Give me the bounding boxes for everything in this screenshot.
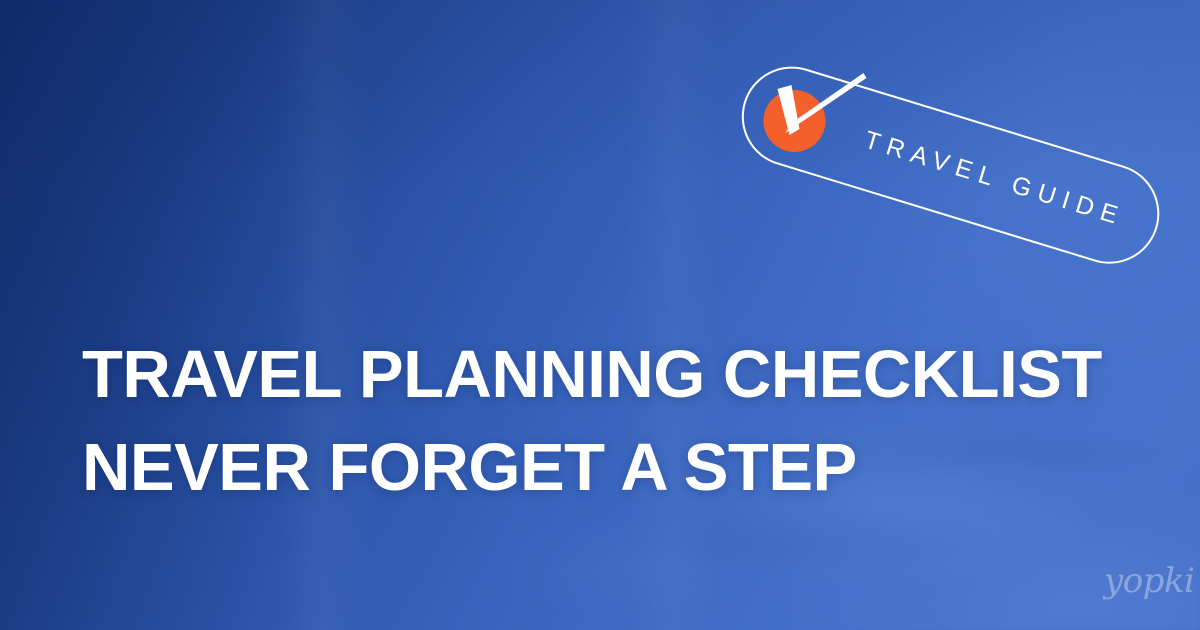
headline-line-1: TRAVEL PLANNING CHECKLIST <box>82 328 1152 421</box>
social-banner-canvas: TRAVEL GUIDE TRAVEL PLANNING CHECKLIST N… <box>0 0 1200 630</box>
background-gradient-overlay <box>0 0 1200 630</box>
headline-line-2: NEVER FORGET A STEP <box>82 421 1152 514</box>
page-title: TRAVEL PLANNING CHECKLIST NEVER FORGET A… <box>82 328 1152 514</box>
check-circle-icon <box>739 59 859 179</box>
brand-watermark: yopki <box>1104 564 1194 598</box>
